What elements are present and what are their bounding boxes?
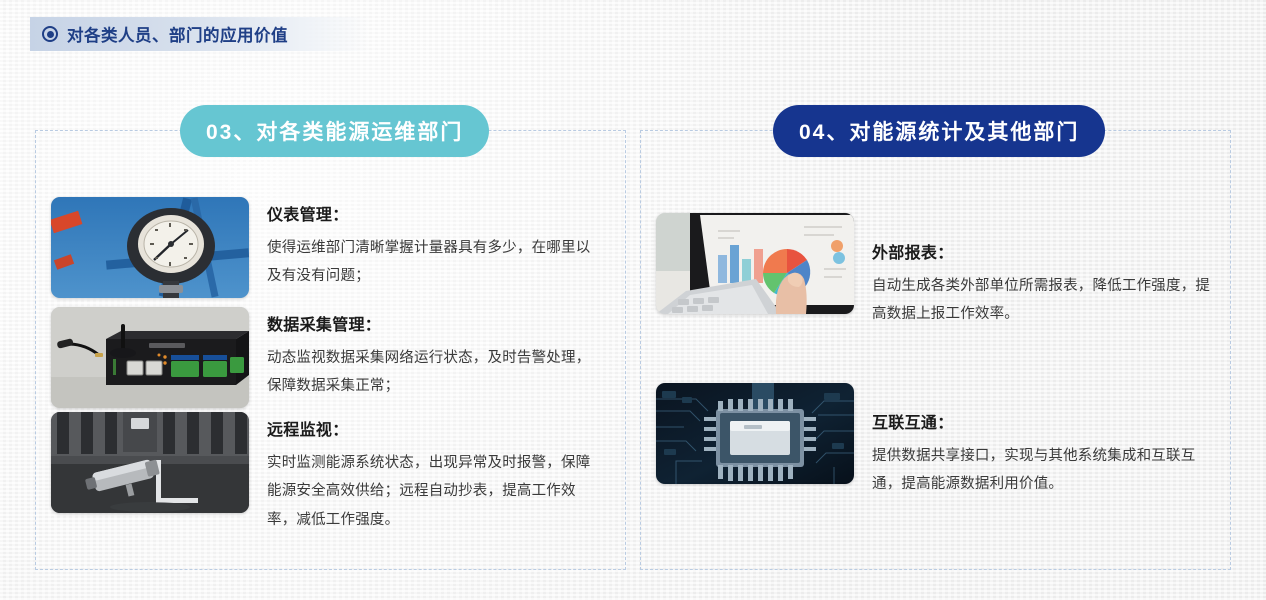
list-item-copy: 数据采集管理： 动态监视数据采集网络运行状态，及时告警处理，保障数据采集正常； — [267, 307, 603, 408]
list-item-title: 仪表管理： — [267, 201, 603, 225]
list-item-title: 外部报表： — [872, 239, 1220, 263]
list-item-copy: 外部报表： 自动生成各类外部单位所需报表，降低工作强度，提高数据上报工作效率。 — [872, 213, 1220, 329]
pressure-gauge-photo — [51, 197, 249, 298]
list-item-body: 提供数据共享接口，实现与其他系统集成和互联互通，提高能源数据利用价值。 — [872, 442, 1220, 499]
cpu-circuit-board-photo — [656, 383, 854, 484]
page-title: 对各类人员、部门的应用价值 — [67, 22, 288, 46]
list-item: 互联互通： 提供数据共享接口，实现与其他系统集成和互联互通，提高能源数据利用价值… — [656, 383, 1220, 499]
list-item: 数据采集管理： 动态监视数据采集网络运行状态，及时告警处理，保障数据采集正常； — [51, 307, 603, 408]
list-item-copy: 远程监视： 实时监测能源系统状态，出现异常及时报警，保障能源安全高效供给；远程自… — [267, 412, 603, 534]
list-item-body: 使得运维部门清晰掌握计量器具有多少，在哪里以及有没有问题； — [267, 234, 603, 291]
panel-04: 04、对能源统计及其他部门 — [640, 130, 1231, 570]
list-item-title: 数据采集管理： — [267, 311, 603, 335]
list-item-copy: 仪表管理： 使得运维部门清晰掌握计量器具有多少，在哪里以及有没有问题； — [267, 197, 603, 298]
ring-bullet-icon — [42, 26, 58, 42]
list-item: 仪表管理： 使得运维部门清晰掌握计量器具有多少，在哪里以及有没有问题； — [51, 197, 603, 298]
panel-03: 03、对各类能源运维部门 — [35, 130, 626, 570]
list-item-title: 远程监视： — [267, 416, 603, 440]
list-item-title: 互联互通： — [872, 409, 1220, 433]
data-acquisition-gateway-photo — [51, 307, 249, 408]
list-item: 外部报表： 自动生成各类外部单位所需报表，降低工作强度，提高数据上报工作效率。 — [656, 213, 1220, 329]
list-item-body: 自动生成各类外部单位所需报表，降低工作强度，提高数据上报工作效率。 — [872, 272, 1220, 329]
list-item-body: 动态监视数据采集网络运行状态，及时告警处理，保障数据采集正常； — [267, 344, 603, 401]
section-header-bar: 对各类人员、部门的应用价值 — [30, 17, 370, 51]
list-item: 远程监视： 实时监测能源系统状态，出现异常及时报警，保障能源安全高效供给；远程自… — [51, 412, 603, 534]
laptop-charts-photo — [656, 213, 854, 314]
list-item-copy: 互联互通： 提供数据共享接口，实现与其他系统集成和互联互通，提高能源数据利用价值… — [872, 383, 1220, 499]
surveillance-camera-photo — [51, 412, 249, 513]
list-item-body: 实时监测能源系统状态，出现异常及时报警，保障能源安全高效供给；远程自动抄表，提高… — [267, 449, 603, 534]
